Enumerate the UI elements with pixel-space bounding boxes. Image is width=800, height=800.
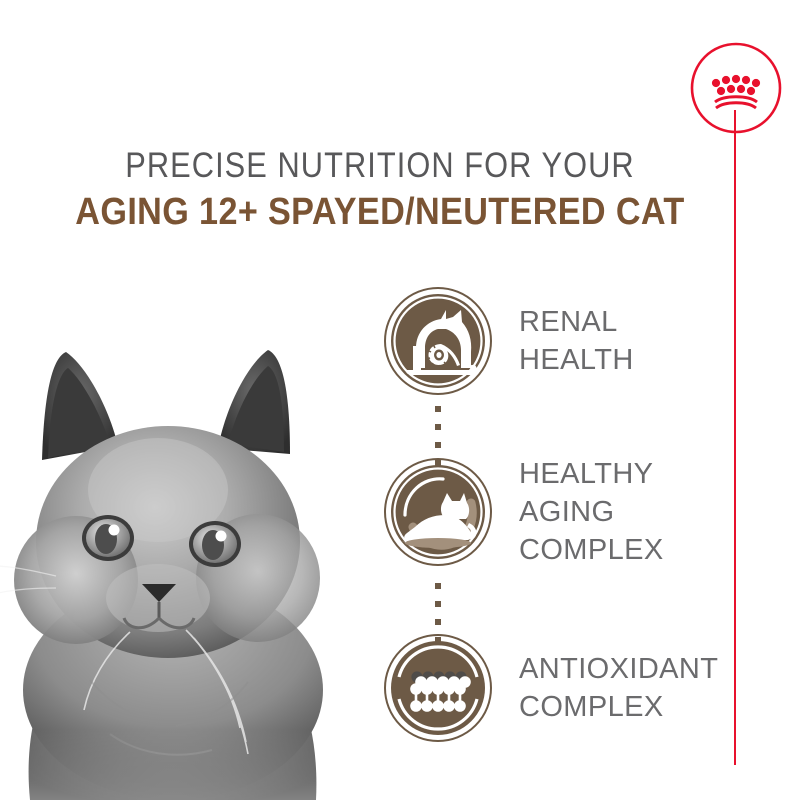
- headline-line-2: AGING 12+ SPAYED/NEUTERED CAT: [38, 189, 722, 235]
- royal-canin-logo: [688, 40, 784, 136]
- molecule-antioxidant-icon: [383, 633, 493, 743]
- cat-kidney-renal-icon: [383, 286, 493, 396]
- benefit-row-renal-health: RENAL HEALTH: [383, 286, 634, 396]
- cat-photo: [0, 330, 360, 800]
- benefit-row-healthy-aging-complex: HEALTHY AGING COMPLEX: [383, 455, 664, 569]
- lying-cat-healthy-aging-icon: [383, 457, 493, 567]
- benefit-label-healthy-aging-complex: HEALTHY AGING COMPLEX: [519, 455, 664, 569]
- royal-canin-crown-icon: [688, 40, 784, 136]
- benefit-row-antioxidant-complex: ANTIOXIDANT COMPLEX: [383, 633, 718, 743]
- benefit-label-antioxidant-complex: ANTIOXIDANT COMPLEX: [519, 650, 718, 726]
- benefit-label-renal-health: RENAL HEALTH: [519, 303, 634, 379]
- headline: PRECISE NUTRITION FOR YOUR AGING 12+ SPA…: [0, 146, 760, 235]
- headline-line-1: PRECISE NUTRITION FOR YOUR: [46, 146, 715, 186]
- promo-canvas: PRECISE NUTRITION FOR YOUR AGING 12+ SPA…: [0, 0, 800, 800]
